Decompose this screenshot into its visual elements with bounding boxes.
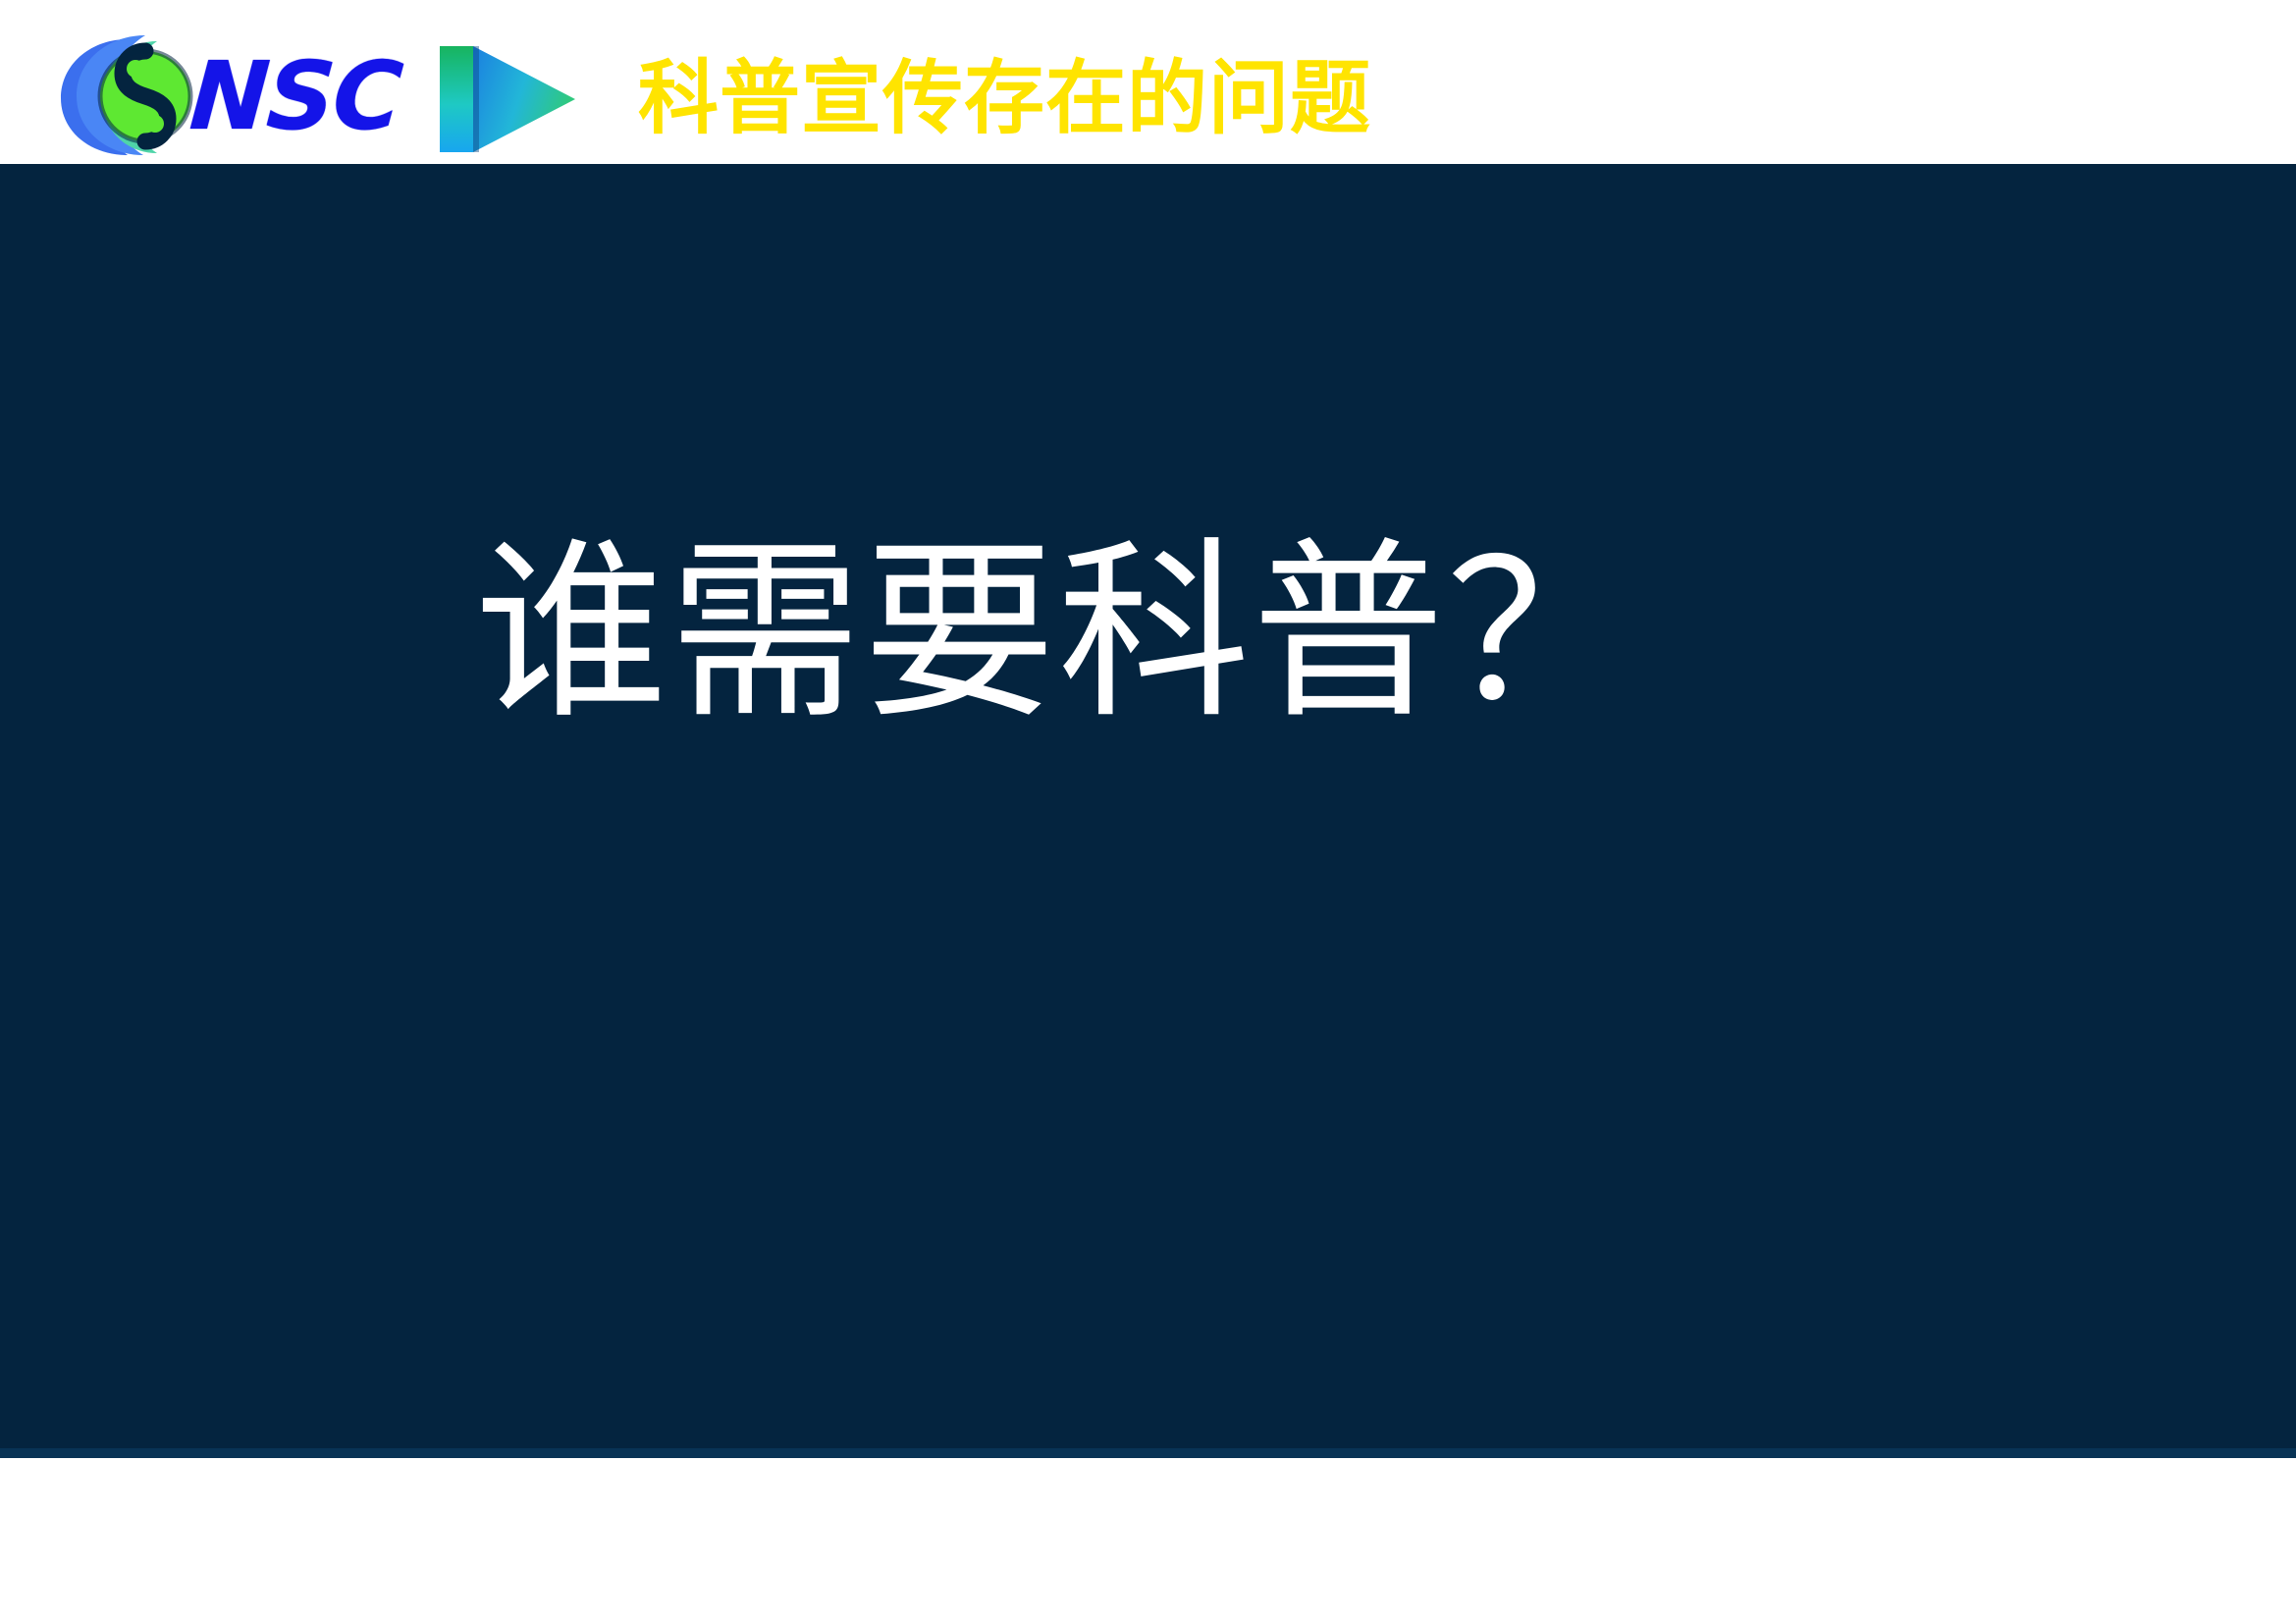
slide-body: 谁需要科普？: [0, 164, 2296, 1458]
slide-canvas: NSC: [0, 0, 2296, 1624]
slide-header: NSC: [0, 27, 2296, 165]
page-title: 科普宣传存在的问题: [638, 59, 1371, 139]
nsc-swirl-logo-icon: [51, 33, 196, 159]
headline-question: 谁需要科普？: [474, 537, 1640, 730]
play-arrow-icon: [440, 46, 587, 152]
nsc-wordmark: NSC: [187, 49, 404, 143]
